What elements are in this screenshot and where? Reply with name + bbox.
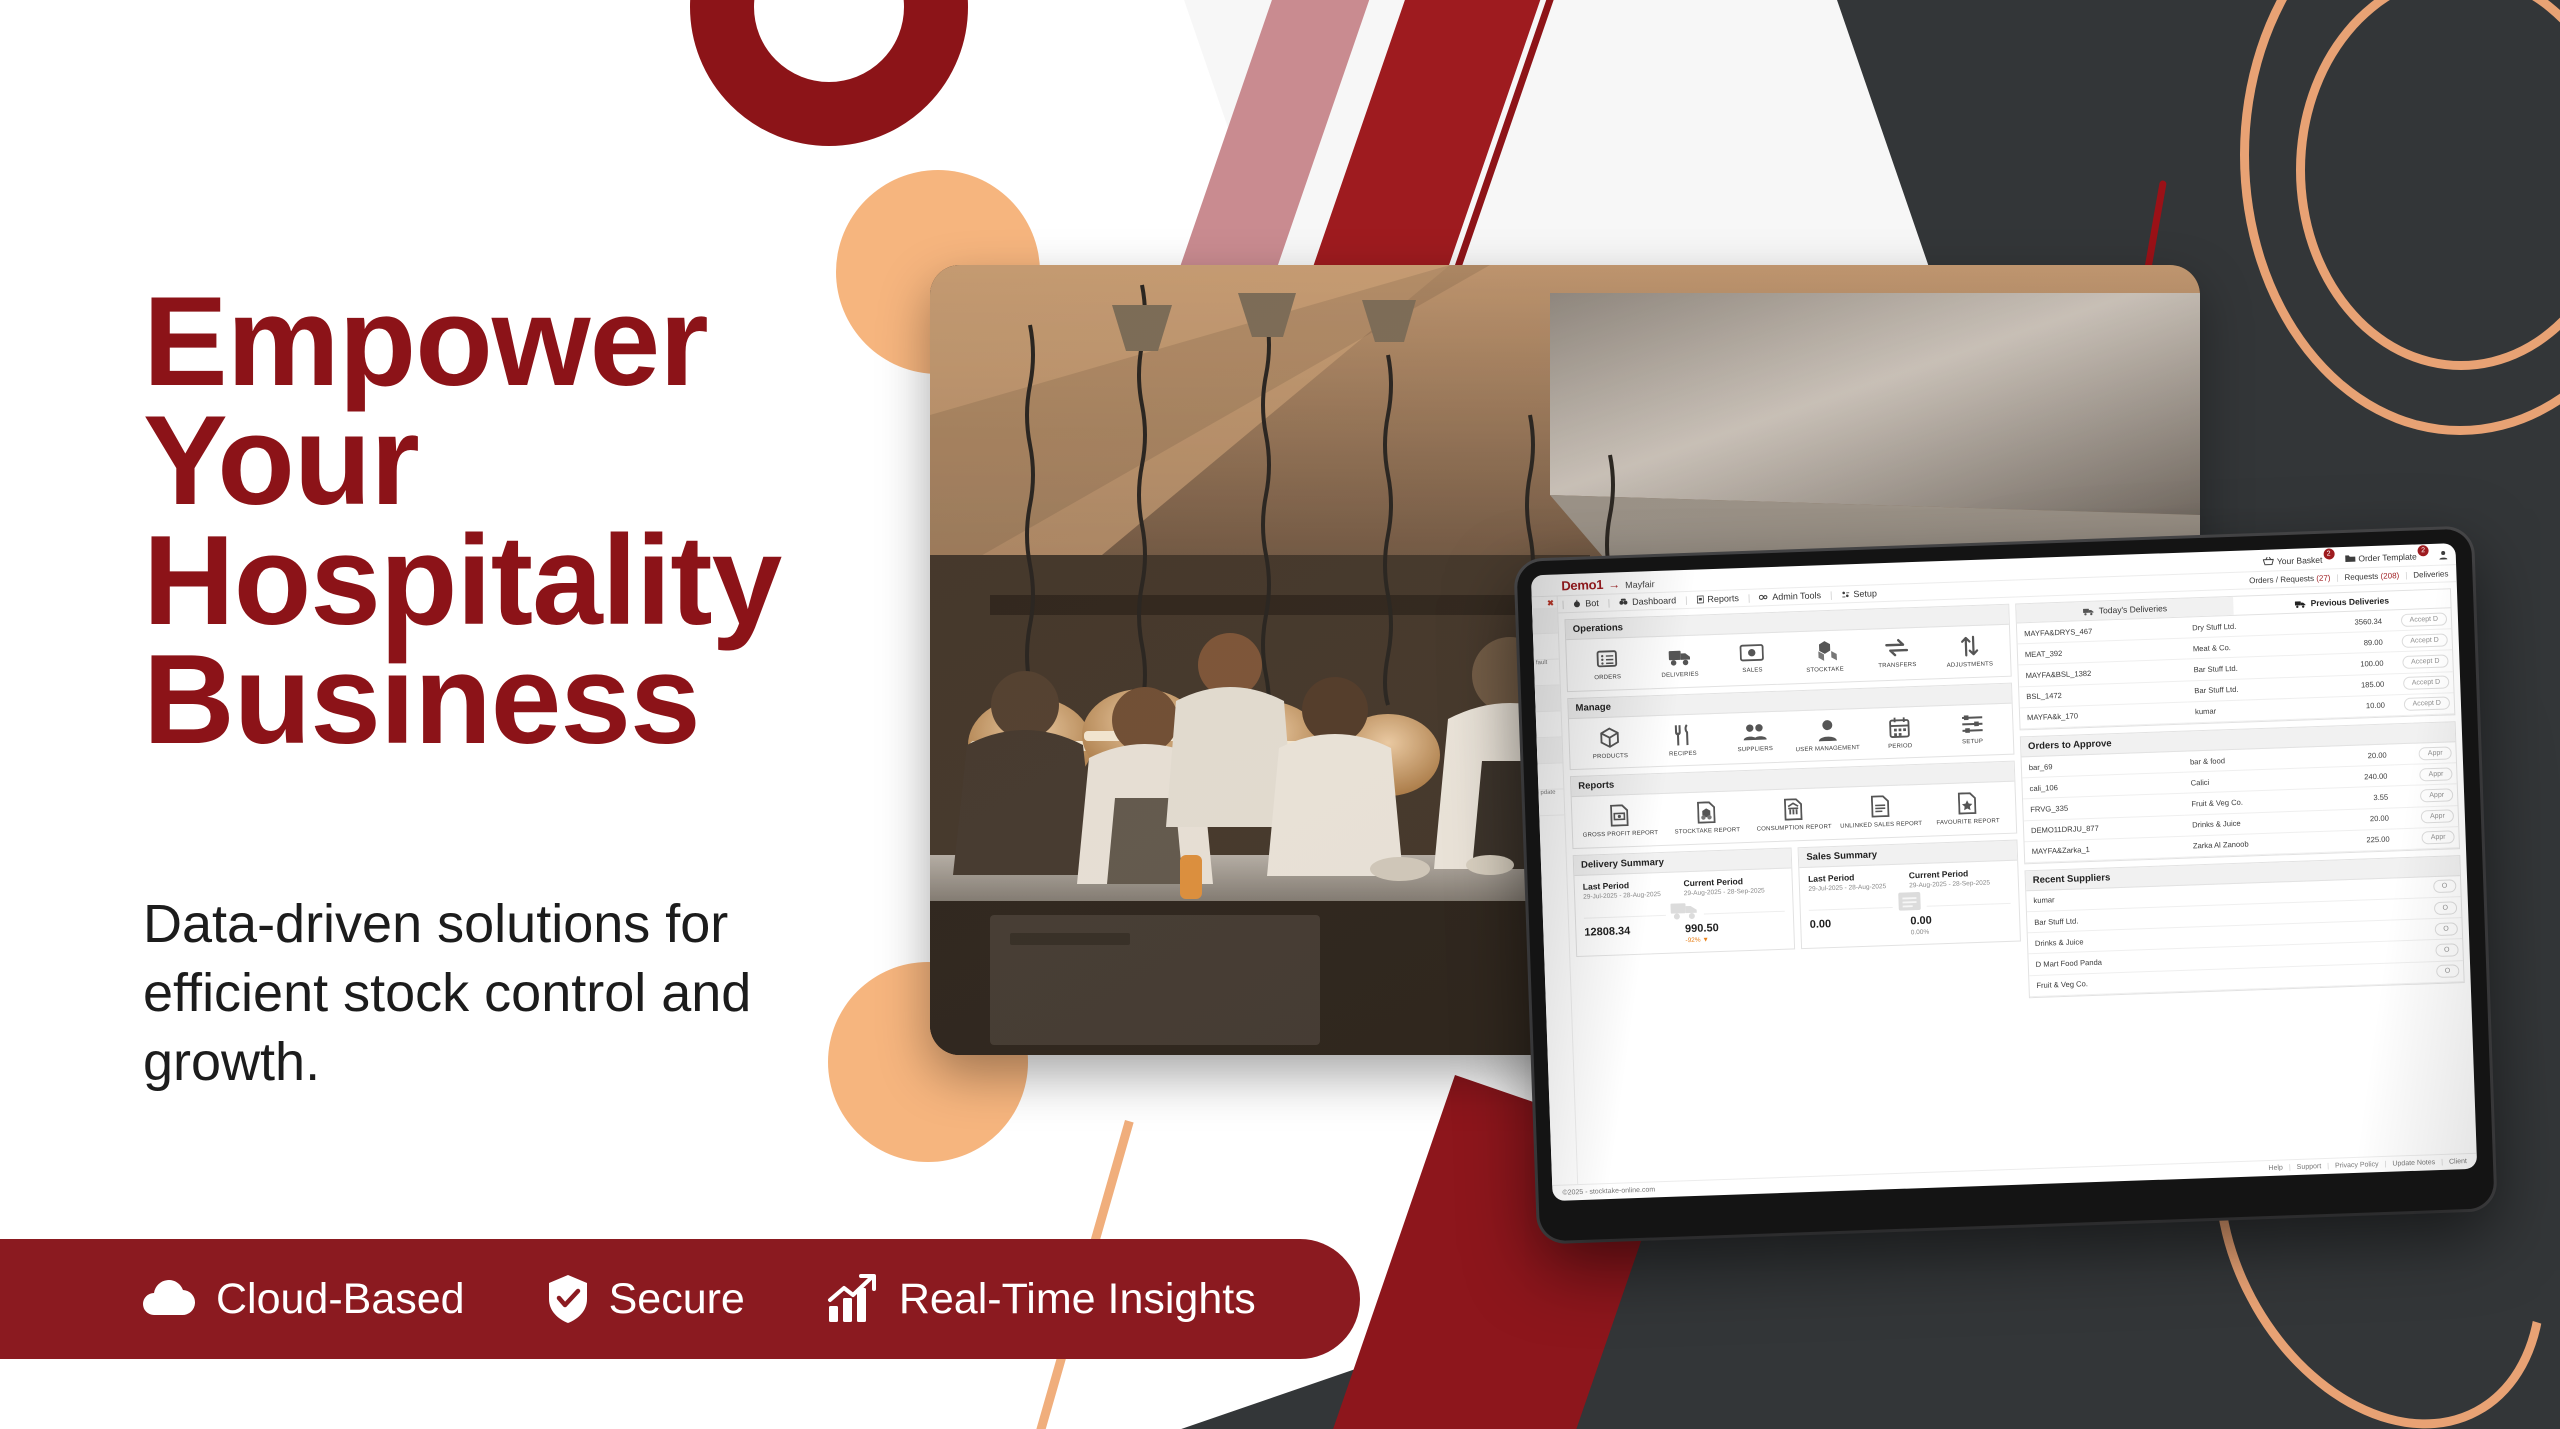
brand-site-name: Mayfair xyxy=(1625,579,1655,590)
tile-label-transfers: TRANSFERS xyxy=(1878,662,1916,671)
orders-to-approve-table: bar_69 bar & food 20.00 Appr cali_106 Ca… xyxy=(2021,742,2459,863)
arrow-icon: → xyxy=(1608,577,1620,591)
delivery-current-period-dates: 29-Aug-2025 - 28-Sep-2025 xyxy=(1684,886,1785,898)
order-supplier-button[interactable]: O xyxy=(2433,880,2457,894)
brand[interactable]: Demo1 → Mayfair xyxy=(1561,575,1655,593)
tile-label-orders: ORDERS xyxy=(1594,674,1621,682)
deliveries-table: MAYFA&DRYS_467 Dry Stuff Ltd. 3560.34 Ac… xyxy=(2017,608,2455,729)
sales-current-value: 0.00 xyxy=(1910,912,2011,928)
delivery-amount: 89.00 xyxy=(2305,631,2391,655)
tile-label-user-management: USER MANAGEMENT xyxy=(1796,744,1861,754)
feature-bar: Cloud-Based Secure Real-Time Insights xyxy=(0,1239,1360,1359)
order-amount: 240.00 xyxy=(2321,765,2395,789)
transfer-arrows-icon xyxy=(1884,637,1909,658)
sales-last-period-label: Last Period xyxy=(1808,870,1909,884)
deliveries-link[interactable]: Deliveries xyxy=(2413,569,2448,579)
truck-icon xyxy=(1667,645,1692,668)
nav-item-dashboard[interactable]: Dashboard xyxy=(1610,595,1685,608)
bot-icon xyxy=(1573,600,1581,608)
sliders-icon xyxy=(1961,713,1984,734)
gear-icon xyxy=(1759,593,1768,601)
app-screen: ✖ fault pdate Demo1 → Mayfair xyxy=(1531,543,2477,1201)
tile-favourite-report[interactable]: FAVOURITE REPORT xyxy=(1924,791,2012,829)
tile-deliveries[interactable]: DELIVERIES xyxy=(1643,644,1716,681)
delivery-amount: 185.00 xyxy=(2306,673,2392,697)
approve-order-button[interactable]: Appr xyxy=(2421,809,2454,823)
tile-label-sales: SALES xyxy=(1742,667,1763,675)
doc-bank-icon xyxy=(1784,798,1803,821)
user-icon[interactable] xyxy=(2439,550,2448,559)
nav-label-reports: Reports xyxy=(1707,593,1739,604)
truck-icon xyxy=(2294,599,2306,608)
folder-icon xyxy=(2344,554,2355,563)
tablet-device: ✖ fault pdate Demo1 → Mayfair xyxy=(1516,529,2494,1242)
summary-row: Delivery Summary Last Period 29-Jul-2025… xyxy=(1573,839,2021,957)
tile-suppliers[interactable]: SUPPLIERS xyxy=(1718,720,1791,757)
nav-label-bot: Bot xyxy=(1585,598,1599,608)
rail-label-update: pdate xyxy=(1538,790,1555,797)
page-title: Empower Your Hospitality Business xyxy=(143,282,913,760)
brand-logo: Demo1 xyxy=(1561,577,1603,593)
order-ref: MAYFA&Zarka_1 xyxy=(2024,836,2186,863)
tile-label-stocktake-report: STOCKTAKE REPORT xyxy=(1675,827,1741,837)
calendar-icon xyxy=(1888,716,1911,739)
sales-last-value: 0.00 xyxy=(1810,916,1911,941)
order-template-button[interactable]: Order Template 2 xyxy=(2344,550,2429,564)
tile-orders[interactable]: ORDERS xyxy=(1571,647,1644,684)
tile-label-products: PRODUCTS xyxy=(1593,753,1629,762)
delivery-amount: 3560.34 xyxy=(2304,610,2390,634)
nav-label-admin-tools: Admin Tools xyxy=(1772,590,1821,602)
approve-order-button[interactable]: Appr xyxy=(2419,746,2452,760)
feature-label-cloud-based: Cloud-Based xyxy=(216,1275,465,1324)
order-template-label: Order Template xyxy=(2358,551,2417,563)
rail-label-default: fault xyxy=(1534,660,1548,666)
nav-item-bot[interactable]: Bot xyxy=(1564,598,1608,610)
tile-label-unlinked-sales-report: UNLINKED SALES REPORT xyxy=(1840,821,1922,831)
footer-links: Help| Support| Privacy Policy| Update No… xyxy=(2268,1158,2467,1172)
tile-label-deliveries: DELIVERIES xyxy=(1661,672,1699,681)
nav-item-admin-tools[interactable]: Admin Tools xyxy=(1750,590,1830,603)
feature-secure: Secure xyxy=(547,1274,745,1324)
order-amount: 20.00 xyxy=(2320,744,2394,767)
order-amount: 3.55 xyxy=(2321,786,2395,810)
tile-label-favourite-report: FAVOURITE REPORT xyxy=(1936,818,2000,828)
delivery-amount: 10.00 xyxy=(2307,695,2393,719)
close-icon[interactable]: ✖ xyxy=(1532,596,1557,608)
tile-label-consumption-report: CONSUMPTION REPORT xyxy=(1757,824,1832,834)
basket-icon xyxy=(2263,556,2274,565)
manage-card: Manage PRODUCTS RECIPES xyxy=(1567,682,2014,770)
sales-current-period-dates: 29-Aug-2025 - 28-Sep-2025 xyxy=(1909,878,2010,890)
dashboard-icon xyxy=(1619,598,1628,606)
recent-suppliers-table: kumar O Bar Stuff Ltd. O Drinks & Juice … xyxy=(2026,876,2464,997)
order-supplier-button[interactable]: O xyxy=(2435,943,2459,957)
cloud-icon xyxy=(140,1279,196,1319)
truck-icon xyxy=(1665,898,1704,923)
approve-order-button[interactable]: Appr xyxy=(2419,767,2452,781)
receipt-icon xyxy=(1892,890,1927,915)
tile-adjustments[interactable]: ADJUSTMENTS xyxy=(1933,634,2006,671)
delivery-amount: 100.00 xyxy=(2305,652,2391,676)
page-subtitle: Data-driven solutions for efficient stoc… xyxy=(143,890,833,1097)
cube-icon xyxy=(1598,726,1621,749)
tab-label-previous-deliveries: Previous Deliveries xyxy=(2310,595,2389,608)
tile-label-setup: SETUP xyxy=(1962,738,1983,746)
requests-count: (208) xyxy=(2380,571,2399,581)
accept-delivery-button[interactable]: Accept D xyxy=(2403,697,2450,712)
up-down-arrows-icon xyxy=(1959,635,1980,658)
doc-boxes-icon xyxy=(1697,801,1716,824)
bar-chart-trend-icon xyxy=(827,1274,879,1324)
nav-label-dashboard: Dashboard xyxy=(1632,595,1676,607)
right-column: Today's Deliveries Previous Deliveries M… xyxy=(2015,588,2471,1171)
delivery-last-value: 12808.34 xyxy=(1584,923,1685,948)
nav-label-setup: Setup xyxy=(1853,588,1877,599)
left-column: Operations ORDERS DELIVERIES xyxy=(1564,604,2028,1187)
nav-item-setup[interactable]: Setup xyxy=(1832,588,1886,600)
sales-current-period-label: Current Period xyxy=(1909,866,2010,880)
footer-link-privacy-policy[interactable]: Privacy Policy xyxy=(2335,1161,2379,1170)
people-icon xyxy=(1742,721,1767,742)
delivery-current-period-label: Current Period xyxy=(1683,874,1784,888)
accept-delivery-button[interactable]: Accept D xyxy=(2403,676,2450,691)
doc-money-icon xyxy=(1610,804,1629,827)
tile-transfers[interactable]: TRANSFERS xyxy=(1860,636,1933,673)
list-icon xyxy=(1596,647,1619,670)
sales-summary-card: Sales Summary Last Period 29-Jul-2025 - … xyxy=(1798,839,2021,949)
tile-stocktake-report[interactable]: STOCKTAKE REPORT xyxy=(1663,800,1751,838)
feature-label-secure: Secure xyxy=(609,1275,745,1324)
feature-real-time-insights: Real-Time Insights xyxy=(827,1274,1256,1324)
delivery-delta: -92% ▼ xyxy=(1685,934,1786,945)
footer-link-update-notes[interactable]: Update Notes xyxy=(2392,1159,2435,1167)
operations-card: Operations ORDERS DELIVERIES xyxy=(1564,604,2011,692)
order-amount: 225.00 xyxy=(2323,829,2397,853)
reports-card: Reports GROSS PROFIT REPORT STOCKTAKE RE… xyxy=(1570,761,2017,849)
footer-link-client[interactable]: Client xyxy=(2449,1158,2467,1166)
feature-cloud-based: Cloud-Based xyxy=(140,1275,465,1324)
boxes-icon xyxy=(1812,640,1837,663)
nav-item-reports[interactable]: Reports xyxy=(1687,593,1748,605)
basket-badge: 2 xyxy=(2323,548,2334,559)
shield-check-icon xyxy=(547,1274,589,1324)
footer-copyright: ©2025 - stocktake-online.com xyxy=(1562,1186,1655,1196)
app-body: Operations ORDERS DELIVERIES xyxy=(1532,582,2476,1188)
tile-label-adjustments: ADJUSTMENTS xyxy=(1947,661,1994,670)
tile-recipes[interactable]: RECIPES xyxy=(1646,722,1719,759)
accept-delivery-button[interactable]: Accept D xyxy=(2402,654,2449,669)
accept-delivery-button[interactable]: Accept D xyxy=(2401,633,2448,648)
tile-setup[interactable]: SETUP xyxy=(1936,712,2009,749)
requests-link[interactable]: Requests (208) xyxy=(2344,571,2399,582)
poster-stage: Empower Your Hospitality Business Data-d… xyxy=(0,0,2560,1429)
delivery-summary-card: Delivery Summary Last Period 29-Jul-2025… xyxy=(1573,847,1796,957)
orders-requests-link[interactable]: Orders / Requests (27) xyxy=(2249,573,2331,585)
order-template-badge: 2 xyxy=(2417,545,2428,556)
tile-period[interactable]: PERIOD xyxy=(1863,715,1936,752)
tile-label-suppliers: SUPPLIERS xyxy=(1737,746,1773,755)
order-amount: 20.00 xyxy=(2322,807,2396,831)
tile-products[interactable]: PRODUCTS xyxy=(1573,725,1646,762)
tile-stocktake[interactable]: STOCKTAKE xyxy=(1788,639,1861,676)
order-supplier-button[interactable]: O xyxy=(2434,922,2458,936)
footer-link-support[interactable]: Support xyxy=(2297,1163,2322,1171)
deliveries-card: Today's Deliveries Previous Deliveries M… xyxy=(2015,588,2455,730)
order-supplier-button[interactable]: O xyxy=(2436,964,2460,978)
delivery-ref: MAYFA&k_170 xyxy=(2020,702,2189,729)
tile-label-stocktake: STOCKTAKE xyxy=(1806,667,1844,676)
orders-requests-count: (27) xyxy=(2316,573,2331,582)
person-icon xyxy=(1817,718,1838,741)
tile-label-period: PERIOD xyxy=(1888,743,1912,751)
tile-sales[interactable]: SALES xyxy=(1716,641,1789,678)
accept-delivery-button[interactable]: Accept D xyxy=(2400,612,2447,627)
tile-gross-profit-report[interactable]: GROSS PROFIT REPORT xyxy=(1576,803,1664,841)
truck-icon xyxy=(2083,606,2095,615)
footer-link-help[interactable]: Help xyxy=(2268,1164,2283,1171)
setup-icon xyxy=(1841,590,1849,598)
sales-delta: 0.00% xyxy=(1911,926,2012,937)
feature-label-real-time-insights: Real-Time Insights xyxy=(899,1275,1256,1324)
order-supplier: Zarka Al Zanoob xyxy=(2186,831,2324,857)
cutlery-icon xyxy=(1672,723,1693,746)
your-basket-button[interactable]: Your Basket 2 xyxy=(2263,553,2335,566)
recent-suppliers-card: Recent Suppliers kumar O Bar Stuff Ltd. … xyxy=(2024,855,2464,998)
order-supplier-button[interactable]: O xyxy=(2433,901,2457,915)
banknote-icon xyxy=(1740,642,1765,663)
approve-order-button[interactable]: Appr xyxy=(2420,788,2453,802)
tab-label-todays-deliveries: Today's Deliveries xyxy=(2099,603,2168,615)
delivery-last-period-label: Last Period xyxy=(1583,878,1684,892)
tile-consumption-report[interactable]: CONSUMPTION REPORT xyxy=(1750,797,1838,835)
approve-order-button[interactable]: Appr xyxy=(2422,831,2455,845)
header-actions: Your Basket 2 Order Template 2 xyxy=(2263,549,2448,566)
doc-lines-icon xyxy=(1871,795,1890,818)
tile-label-recipes: RECIPES xyxy=(1669,750,1697,758)
orders-to-approve-card: Orders to Approve bar_69 bar & food 20.0… xyxy=(2020,721,2460,864)
doc-star-icon xyxy=(1958,792,1977,815)
tile-unlinked-sales-report[interactable]: UNLINKED SALES REPORT xyxy=(1837,794,1925,832)
delivery-supplier: kumar xyxy=(2188,698,2308,723)
your-basket-label: Your Basket xyxy=(2277,554,2323,566)
delivery-current-value: 990.50 xyxy=(1685,920,1786,936)
tile-user-management[interactable]: USER MANAGEMENT xyxy=(1791,717,1864,754)
report-icon xyxy=(1696,595,1703,603)
tile-label-gross-profit-report: GROSS PROFIT REPORT xyxy=(1583,830,1659,840)
